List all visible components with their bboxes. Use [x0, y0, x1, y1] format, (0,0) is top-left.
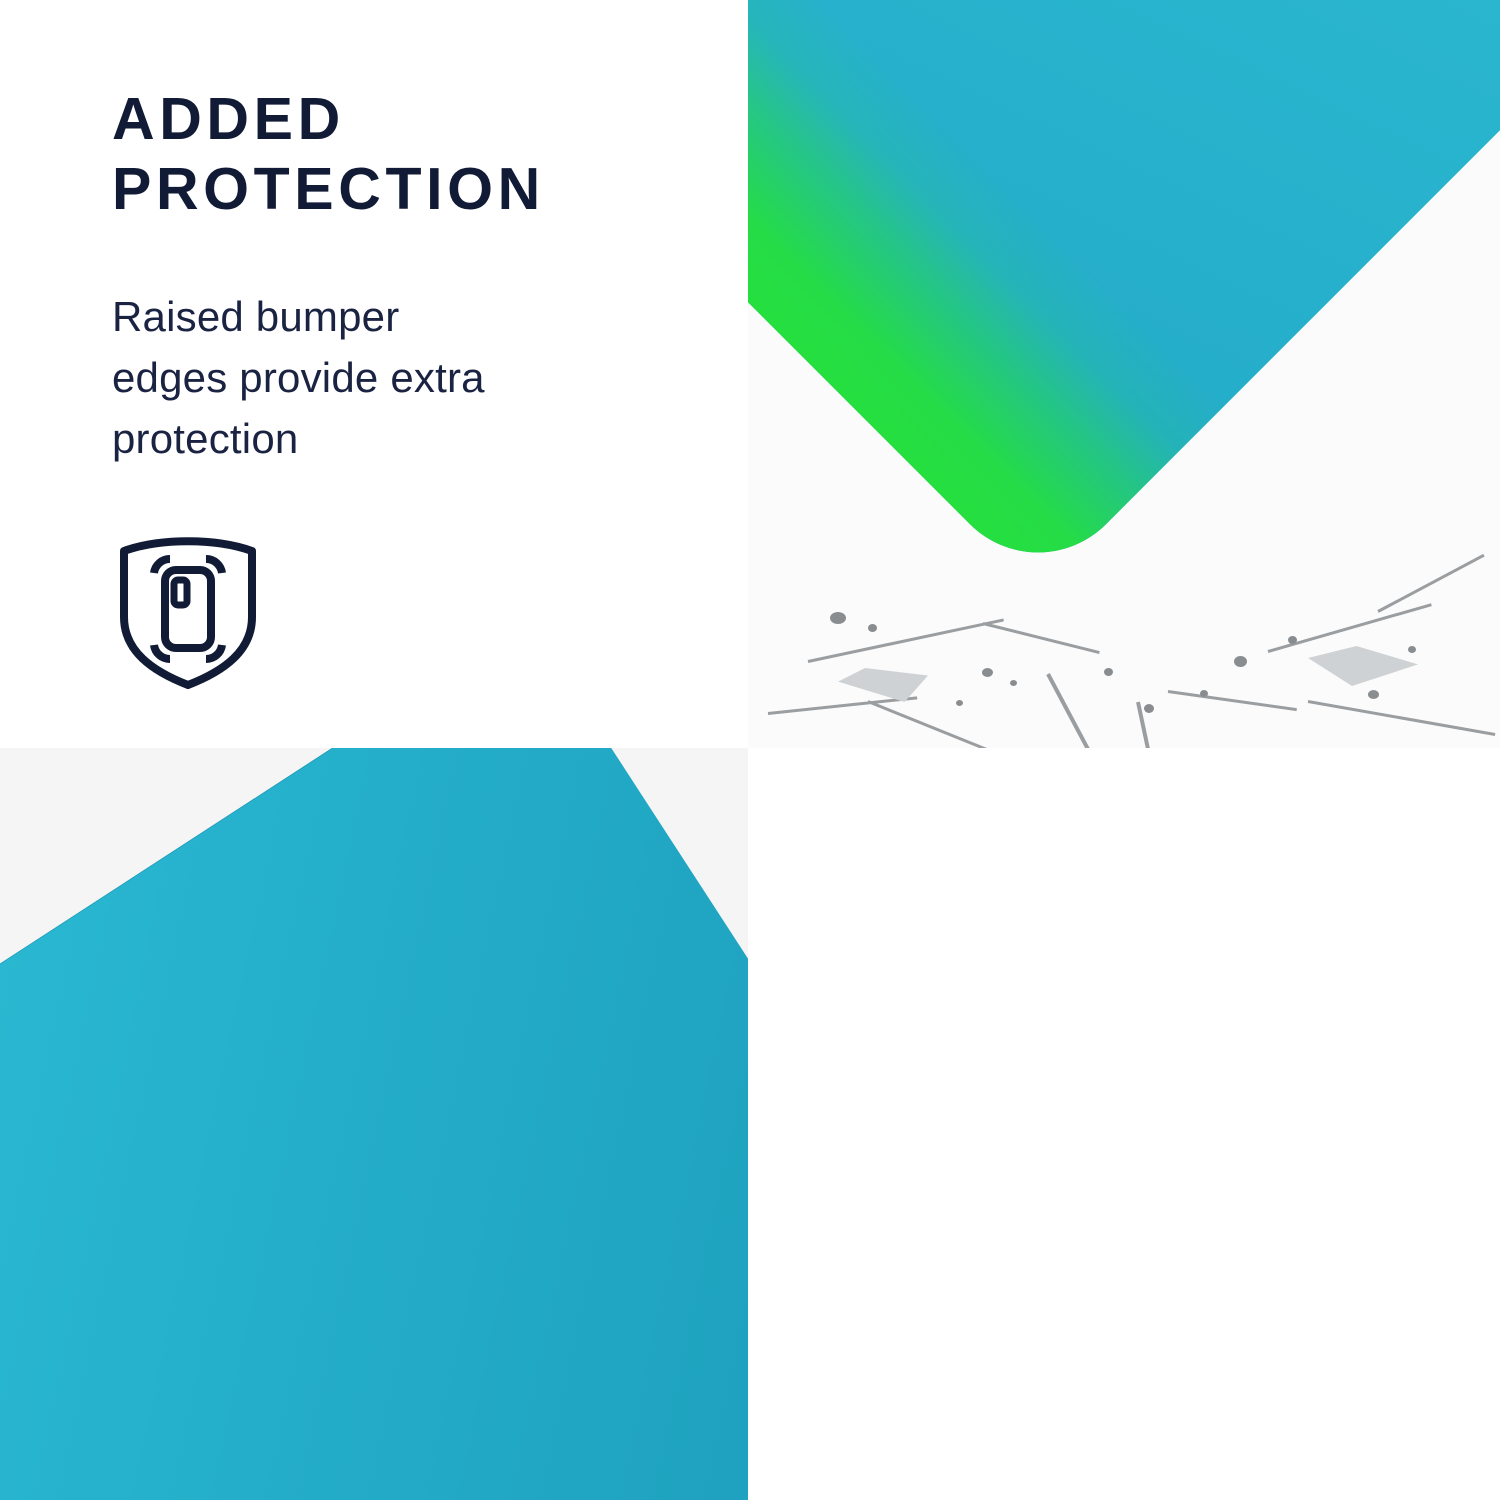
panel-drop-impact-photo	[748, 0, 1500, 748]
debris-particle	[1288, 636, 1297, 644]
camera-bumper-scene	[0, 748, 748, 1500]
debris-particle	[830, 612, 846, 624]
drop-impact-scene	[748, 0, 1500, 748]
phone-case-body	[0, 748, 748, 1500]
panel-added-protection: ADDED PROTECTION Raised bumper edges pro…	[0, 0, 748, 748]
feature-collage: ADDED PROTECTION Raised bumper edges pro…	[0, 0, 1500, 1500]
debris-particle	[982, 668, 993, 677]
panel-camera-bumper-photo	[0, 748, 748, 1500]
shield-phone-icon	[112, 525, 264, 693]
debris-particle	[1234, 656, 1247, 667]
debris-particle	[1368, 690, 1379, 699]
added-protection-subtext: Raised bumper edges provide extra protec…	[112, 286, 702, 469]
panel-protects-camera: PROTECTS CAMERA Raised edges protect cam…	[748, 748, 1500, 1500]
debris-particle	[868, 624, 877, 632]
debris-particle	[956, 700, 963, 706]
added-protection-content: ADDED PROTECTION Raised bumper edges pro…	[112, 84, 702, 693]
debris-particle	[1010, 680, 1017, 686]
debris-particle	[1200, 690, 1208, 697]
debris-particle	[1104, 668, 1113, 676]
added-protection-headline: ADDED PROTECTION	[112, 84, 702, 224]
debris-particle	[1144, 704, 1154, 713]
shield-phone-icon-wrap	[112, 525, 702, 693]
debris-particle	[1408, 646, 1416, 653]
